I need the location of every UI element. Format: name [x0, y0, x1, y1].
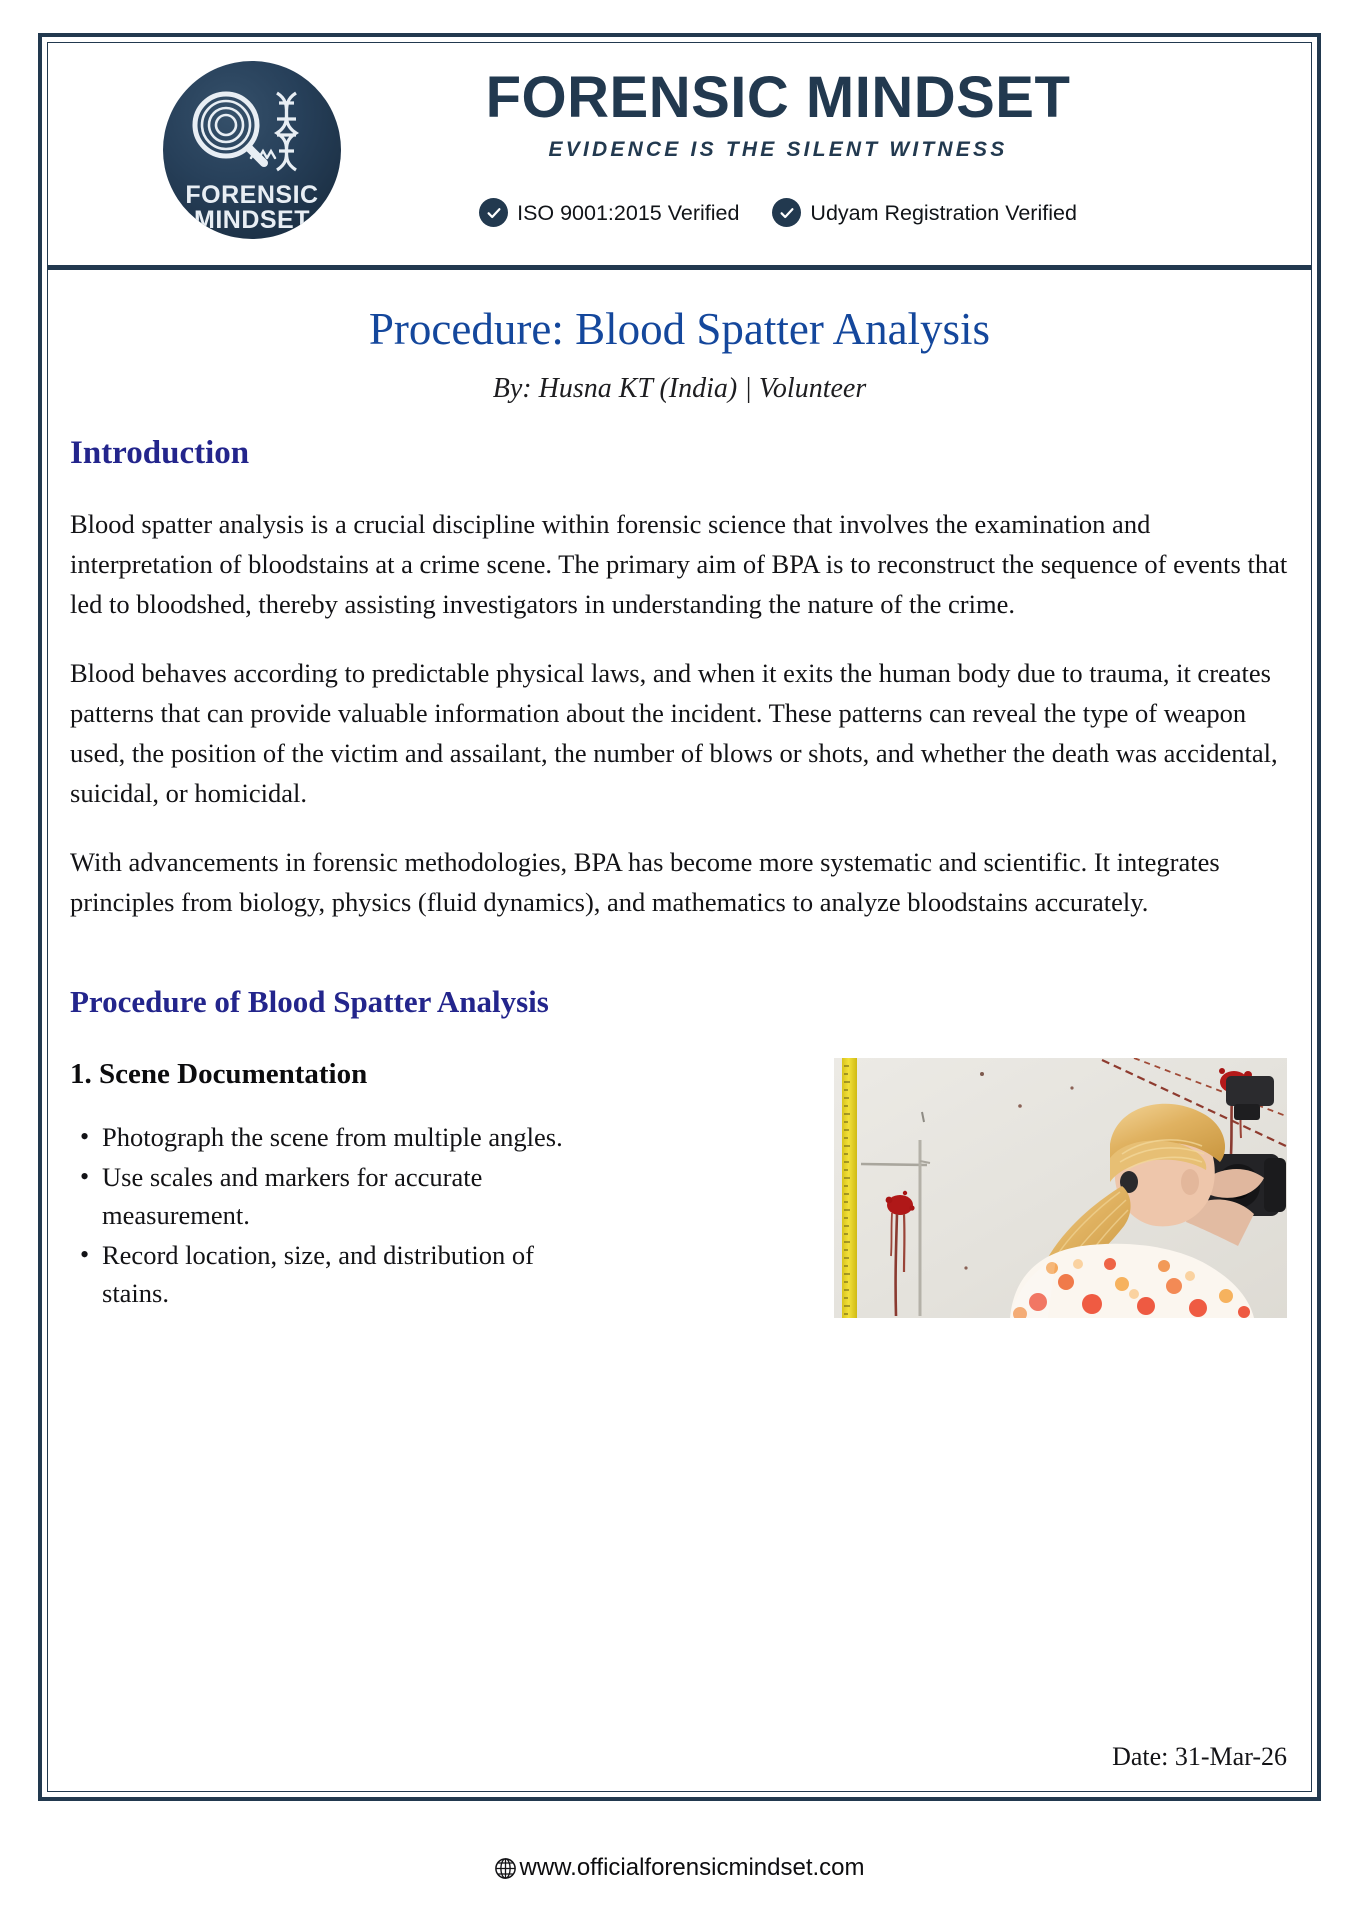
badge-iso: ISO 9001:2015 Verified [479, 198, 739, 227]
author-byline: By: Husna KT (India) | Volunteer [70, 372, 1289, 406]
badge-iso-label: ISO 9001:2015 Verified [517, 201, 739, 225]
list-item: Photograph the scene from multiple angle… [70, 1118, 575, 1156]
globe-icon [494, 1857, 517, 1880]
section-heading-procedure: Procedure of Blood Spatter Analysis [70, 982, 1289, 1022]
badge-udyam-label: Udyam Registration Verified [810, 201, 1076, 225]
logo-line-1: FORENSIC [163, 183, 341, 208]
document-body: Procedure: Blood Spatter Analysis By: Hu… [48, 270, 1311, 1791]
logo-line-2: MINDSET [163, 208, 341, 233]
section-heading-introduction: Introduction [70, 433, 1289, 473]
forensic-photographer-figure [834, 1058, 1287, 1318]
step-title: 1. Scene Documentation [70, 1056, 590, 1092]
intro-paragraph-3: With advancements in forensic methodolog… [70, 842, 1289, 922]
brand-title: FORENSIC MINDSET [348, 67, 1208, 129]
check-circle-icon [479, 198, 508, 227]
badge-udyam: Udyam Registration Verified [772, 198, 1076, 227]
verification-badges: ISO 9001:2015 Verified Udyam Registratio… [348, 198, 1208, 227]
page-footer: www.officialforensicmindset.com [38, 1843, 1321, 1893]
page-title: Procedure: Blood Spatter Analysis [70, 303, 1289, 355]
document-header: FORENSIC MINDSET FORENSIC MINDSET EVIDEN… [48, 43, 1311, 270]
brand-tagline: EVIDENCE IS THE SILENT WITNESS [348, 135, 1208, 165]
brand-block: FORENSIC MINDSET EVIDENCE IS THE SILENT … [348, 67, 1208, 165]
document-date: Date: 31-Mar-26 [1112, 1741, 1287, 1773]
document-page: FORENSIC MINDSET [0, 0, 1357, 1920]
procedure-step-1: 1. Scene Documentation Photograph the sc… [70, 1056, 1289, 1356]
document-frame: FORENSIC MINDSET FORENSIC MINDSET EVIDEN… [38, 33, 1321, 1801]
check-circle-icon [772, 198, 801, 227]
intro-paragraph-2: Blood behaves according to predictable p… [70, 653, 1289, 813]
step-bullet-list: Photograph the scene from multiple angle… [70, 1118, 575, 1312]
list-item: Use scales and markers for accurate meas… [70, 1158, 575, 1234]
footer-website-url[interactable]: www.officialforensicmindset.com [519, 1854, 864, 1882]
list-item: Record location, size, and distribution … [70, 1236, 575, 1312]
forensic-mindset-logo: FORENSIC MINDSET [163, 61, 341, 239]
blood-spatter-documentation-photo [834, 1058, 1287, 1318]
intro-paragraph-1: Blood spatter analysis is a crucial disc… [70, 504, 1289, 624]
